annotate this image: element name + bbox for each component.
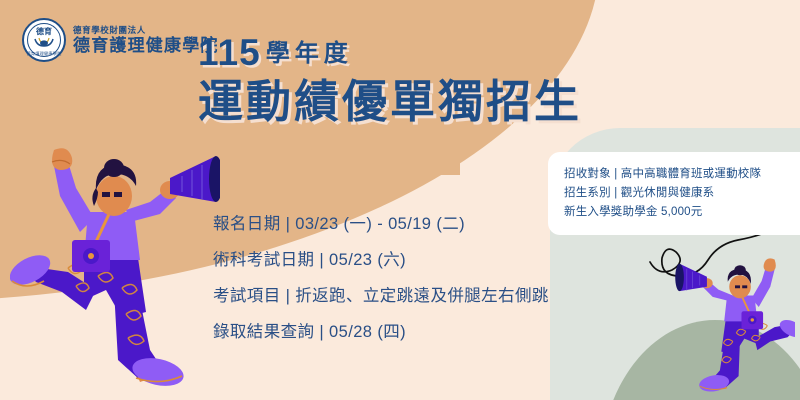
left-figure-illustration	[10, 140, 220, 400]
detail-line-exam-items: 考試項目 | 折返跑、立定跳遠及併腿左右側跳	[213, 278, 549, 314]
seal-bottom-text: 德育護理健康學院	[26, 51, 61, 56]
headline-main: 運動績優單獨招生	[198, 76, 582, 128]
detail-line-exam-date: 術科考試日期 | 05/23 (六)	[213, 242, 549, 278]
seal-emblem-icon	[33, 37, 55, 48]
institution-name: 德育護理健康學院	[73, 36, 219, 56]
headline-year-row: 115 學年度	[198, 34, 582, 72]
seal-top-text: 德育	[36, 27, 52, 36]
info-box: 招收對象 | 高中高職體育班或運動校隊 招生系別 | 觀光休閒與健康系 新生入學…	[548, 152, 800, 235]
school-logo: 德育 德育護理健康學院 德育學校財團法人 德育護理健康學院	[22, 18, 219, 62]
info-line: 招收對象 | 高中高職體育班或運動校隊	[564, 165, 796, 184]
details-list: 報名日期 | 03/23 (一) - 05/19 (二) 術科考試日期 | 05…	[213, 206, 549, 350]
headline-year-unit: 學年度	[266, 39, 353, 72]
info-line: 新生入學獎助學金 5,000元	[564, 203, 796, 222]
info-line: 招生系別 | 觀光休閒與健康系	[564, 184, 796, 203]
institution-prefix: 德育學校財團法人	[73, 25, 219, 36]
admissions-banner: 德育 德育護理健康學院 德育學校財團法人 德育護理健康學院 115 學年度 運動…	[0, 0, 800, 400]
headline-year: 115	[198, 34, 261, 72]
school-name-block: 德育學校財團法人 德育護理健康學院	[73, 25, 219, 56]
detail-line-results: 錄取結果查詢 | 05/28 (四)	[213, 314, 549, 350]
headline-block: 115 學年度 運動績優單獨招生	[198, 34, 582, 128]
detail-line-registration: 報名日期 | 03/23 (一) - 05/19 (二)	[213, 206, 549, 242]
right-figure-illustration	[645, 258, 795, 400]
school-seal-icon: 德育 德育護理健康學院	[22, 18, 66, 62]
